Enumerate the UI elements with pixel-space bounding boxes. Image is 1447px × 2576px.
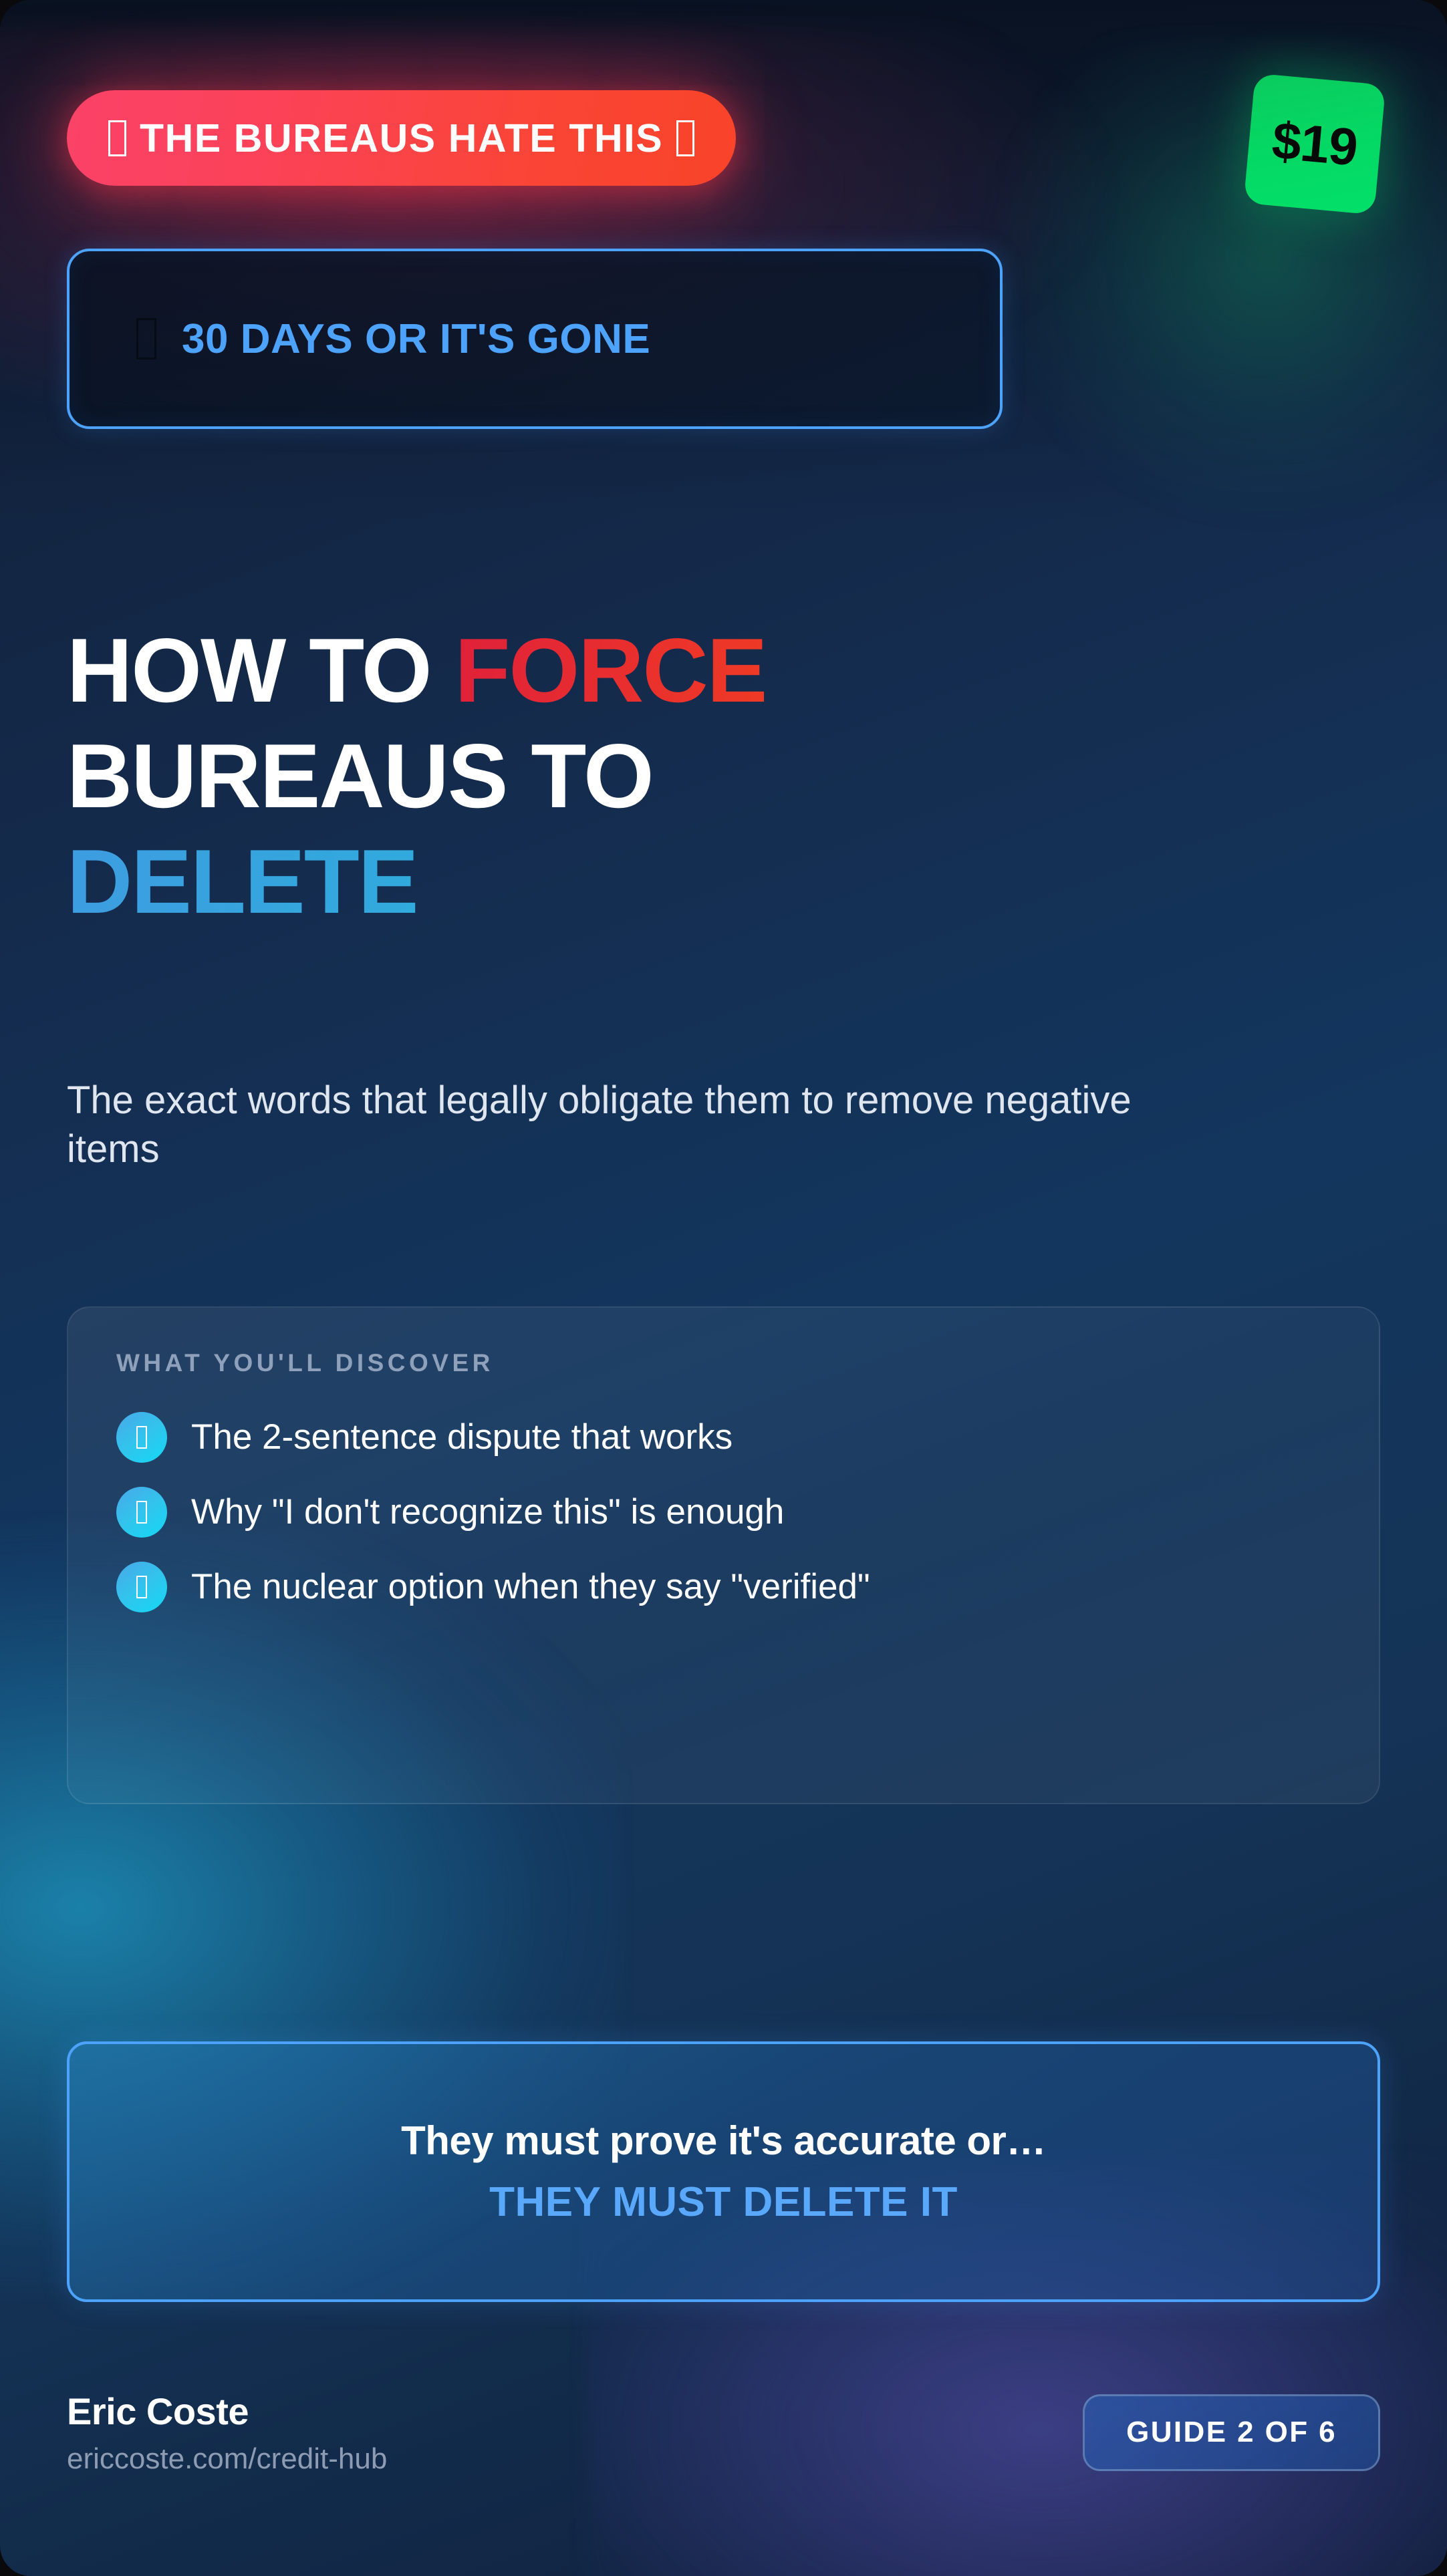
tofu-glyph-icon	[136, 1426, 147, 1449]
tofu-glyph-icon-clock	[136, 318, 156, 360]
footer: Eric Coste ericcoste.com/credit-hub GUID…	[67, 2366, 1380, 2499]
price-label: $19	[1270, 110, 1360, 178]
tofu-glyph-icon-right	[676, 120, 694, 156]
expiry-badge-label: 30 DAYS OR IT'S GONE	[182, 315, 650, 363]
feature-label: The nuclear option when they say "verifi…	[191, 1568, 870, 1606]
expiry-badge[interactable]: 30 DAYS OR IT'S GONE	[67, 249, 1003, 429]
headline-line-3: DELETE	[67, 829, 1203, 935]
headline-part-how-to: HOW TO	[67, 619, 454, 721]
guide-promo-card: THE BUREAUS HATE THIS $19 30 DAYS OR IT'…	[0, 0, 1447, 2576]
list-item: The nuclear option when they say "verifi…	[116, 1562, 1331, 1612]
headline-part-force: FORCE	[454, 619, 766, 721]
list-item: Why "I don't recognize this" is enough	[116, 1487, 1331, 1538]
page-title: HOW TO FORCE BUREAUS TO DELETE	[67, 618, 1203, 934]
quote-callout: They must prove it's accurate or… THEY M…	[67, 2041, 1380, 2302]
top-badge-row: THE BUREAUS HATE THIS $19	[67, 72, 1380, 226]
list-item: The 2-sentence dispute that works	[116, 1412, 1331, 1463]
quote-line-1: They must prove it's accurate or…	[401, 2118, 1046, 2164]
bureaus-hate-label: THE BUREAUS HATE THIS	[140, 116, 663, 161]
guide-counter-label: GUIDE 2 OF 6	[1126, 2416, 1337, 2449]
discover-card: WHAT YOU'LL DISCOVER The 2-sentence disp…	[67, 1306, 1380, 1804]
author-url[interactable]: ericcoste.com/credit-hub	[67, 2442, 387, 2476]
feature-label: The 2-sentence dispute that works	[191, 1418, 733, 1457]
guide-counter-chip[interactable]: GUIDE 2 OF 6	[1083, 2394, 1380, 2471]
author-block: Eric Coste ericcoste.com/credit-hub	[67, 2390, 387, 2476]
feature-list: The 2-sentence dispute that works Why "I…	[116, 1412, 1331, 1612]
tofu-glyph-icon	[136, 1501, 147, 1524]
headline-line-2: BUREAUS TO	[67, 724, 1203, 829]
check-bullet-icon	[116, 1562, 167, 1612]
check-bullet-icon	[116, 1487, 167, 1538]
bureaus-hate-badge[interactable]: THE BUREAUS HATE THIS	[67, 90, 736, 186]
check-bullet-icon	[116, 1412, 167, 1463]
feature-label: Why "I don't recognize this" is enough	[191, 1493, 784, 1532]
subtitle: The exact words that legally obligate th…	[67, 1076, 1150, 1173]
card-content: THE BUREAUS HATE THIS $19 30 DAYS OR IT'…	[0, 0, 1447, 2576]
price-badge[interactable]: $19	[1244, 74, 1386, 215]
author-name: Eric Coste	[67, 2390, 387, 2433]
quote-line-2: THEY MUST DELETE IT	[489, 2178, 958, 2226]
headline-line-1: HOW TO FORCE	[67, 618, 1203, 724]
tofu-glyph-icon	[136, 1576, 147, 1598]
discover-card-title: WHAT YOU'LL DISCOVER	[116, 1349, 1331, 1377]
tofu-glyph-icon-left	[108, 120, 126, 156]
